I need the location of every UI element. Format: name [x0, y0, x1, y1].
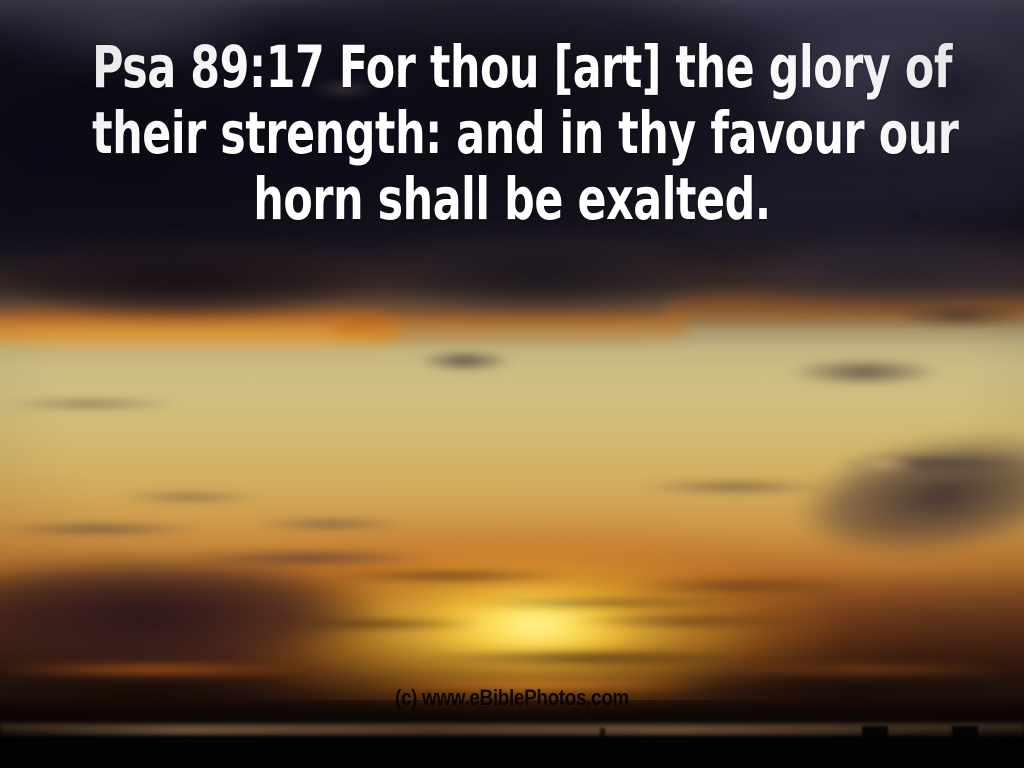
watermark: (c) www.eBiblePhotos.com: [0, 686, 1024, 710]
cloud-puff-right-a: [770, 355, 960, 389]
streak-sun-3: [540, 612, 840, 630]
streak-mid-center-1: [230, 516, 430, 532]
streak-mid-right-1: [620, 478, 850, 496]
streak-sun-1: [300, 568, 600, 584]
verse-line-2: their strength: and in thy favour our: [92, 100, 932, 166]
watermark-text: (c) www.eBiblePhotos.com: [395, 686, 629, 710]
verse-line-1: Psa 89:17 For thou [art] the glory of: [92, 34, 932, 100]
cloud-puff-center: [405, 348, 525, 374]
cloud-band-rim-center: [330, 300, 690, 348]
streak-orange-right: [700, 660, 1024, 682]
foreground-silhouette: [0, 742, 1024, 768]
streak-sun-5: [600, 576, 880, 596]
verse-line-3: horn shall be exalted.: [92, 166, 932, 232]
verse-overlay: Psa 89:17 For thou [art] the glory of th…: [0, 34, 1024, 232]
streak-mid-left-2: [100, 490, 280, 504]
streak-sun-4: [250, 616, 510, 632]
scripture-image: (c) www.eBiblePhotos.com Psa 89:17 For t…: [0, 0, 1024, 768]
streak-sun-2: [430, 596, 790, 610]
cloud-lit-right: [845, 455, 925, 473]
streak-mid-center-2: [160, 548, 460, 568]
